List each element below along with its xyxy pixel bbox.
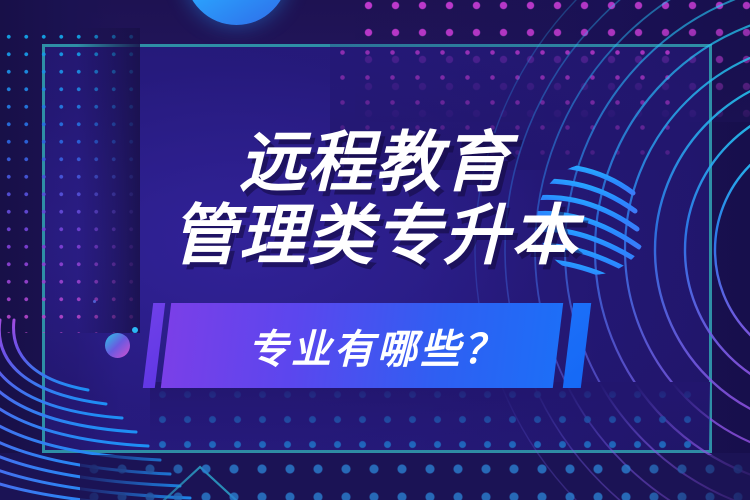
- poster-canvas: 远程教育 管理类专升本 专业有哪些？: [0, 0, 750, 500]
- headline-block: 远程教育 管理类专升本: [0, 128, 750, 269]
- headline-line-2: 管理类专升本: [0, 201, 750, 270]
- headline-line-1: 远程教育: [0, 128, 750, 197]
- halftone-bottom-outer-fade: [80, 455, 750, 500]
- subtitle-text: 专业有哪些？: [0, 298, 750, 394]
